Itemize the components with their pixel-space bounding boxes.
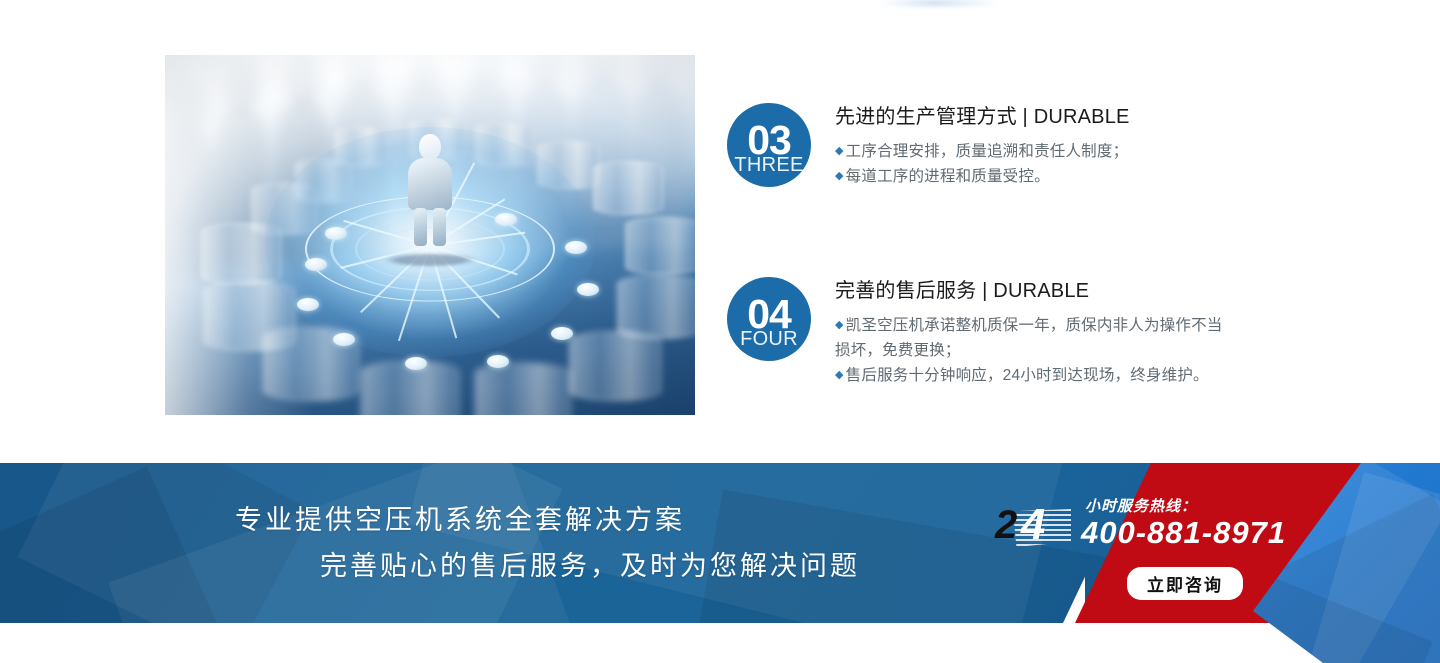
diamond-bullet-icon: ◆ <box>835 369 844 381</box>
feature-bullet-item: ◆售后服务十分钟响应，24小时到达现场，终身维护。 <box>835 363 1235 388</box>
feature-text-04: 完善的售后服务 | DURABLE ◆凯圣空压机承诺整机质保一年，质保内非人为操… <box>835 277 1235 388</box>
digit-four: 4 <box>1021 503 1045 547</box>
cta-banner: 专业提供空压机系统全套解决方案 完善贴心的售后服务，及时为您解决问题 2 4 小… <box>0 463 1440 663</box>
feature-title: 先进的生产管理方式 | DURABLE <box>835 105 1130 130</box>
feature-badge-04: 04 FOUR <box>727 277 811 361</box>
feature-bullet-text: 凯圣空压机承诺整机质保一年，质保内非人为操作不当损坏，免费更换； <box>835 317 1222 359</box>
slogan-line-1: 专业提供空压机系统全套解决方案 <box>235 500 1060 541</box>
feature-bullet-list: ◆凯圣空压机承诺整机质保一年，质保内非人为操作不当损坏，免费更换； ◆售后服务十… <box>835 313 1235 388</box>
badge-word: THREE <box>734 155 803 175</box>
feature-bullet-item: ◆工序合理安排，质量追溯和责任人制度； <box>835 139 1130 164</box>
consult-now-button[interactable]: 立即咨询 <box>1127 567 1243 600</box>
diamond-bullet-icon: ◆ <box>835 319 844 331</box>
feature-bullet-item: ◆凯圣空压机承诺整机质保一年，质保内非人为操作不当损坏，免费更换； <box>835 313 1235 363</box>
network-concept-photo <box>165 55 695 415</box>
promo-page: 03 THREE 先进的生产管理方式 | DURABLE ◆工序合理安排，质量追… <box>0 0 1440 663</box>
diamond-bullet-icon: ◆ <box>835 145 844 157</box>
digit-two: 2 <box>995 505 1017 545</box>
feature-bullet-text: 工序合理安排，质量追溯和责任人制度； <box>846 143 1129 160</box>
features-section: 03 THREE 先进的生产管理方式 | DURABLE ◆工序合理安排，质量追… <box>0 0 1440 440</box>
feature-badge-03: 03 THREE <box>727 103 811 187</box>
hotline-label: 小时服务热线： <box>1085 495 1197 516</box>
feature-bullet-text: 售后服务十分钟响应，24小时到达现场，终身维护。 <box>846 367 1209 384</box>
feature-block-03: 03 THREE 先进的生产管理方式 | DURABLE ◆工序合理安排，质量追… <box>727 103 1130 189</box>
diamond-bullet-icon: ◆ <box>835 170 844 182</box>
feature-bullet-list: ◆工序合理安排，质量追溯和责任人制度； ◆每道工序的进程和质量受控。 <box>835 139 1130 189</box>
24-hour-logo: 2 4 <box>995 505 1075 547</box>
photo-vignette <box>165 55 695 415</box>
feature-bullet-item: ◆每道工序的进程和质量受控。 <box>835 164 1130 189</box>
feature-bullet-text: 每道工序的进程和质量受控。 <box>846 168 1050 185</box>
feature-text-03: 先进的生产管理方式 | DURABLE ◆工序合理安排，质量追溯和责任人制度； … <box>835 103 1130 189</box>
slogan-line-2: 完善贴心的售后服务，及时为您解决问题 <box>320 546 1060 587</box>
feature-block-04: 04 FOUR 完善的售后服务 | DURABLE ◆凯圣空压机承诺整机质保一年… <box>727 277 1235 388</box>
badge-word: FOUR <box>740 329 798 349</box>
banner-slogan: 专业提供空压机系统全套解决方案 完善贴心的售后服务，及时为您解决问题 <box>0 463 1060 623</box>
hotline-phone-number: 400-881-8971 <box>1081 515 1286 551</box>
feature-title: 完善的售后服务 | DURABLE <box>835 279 1235 304</box>
